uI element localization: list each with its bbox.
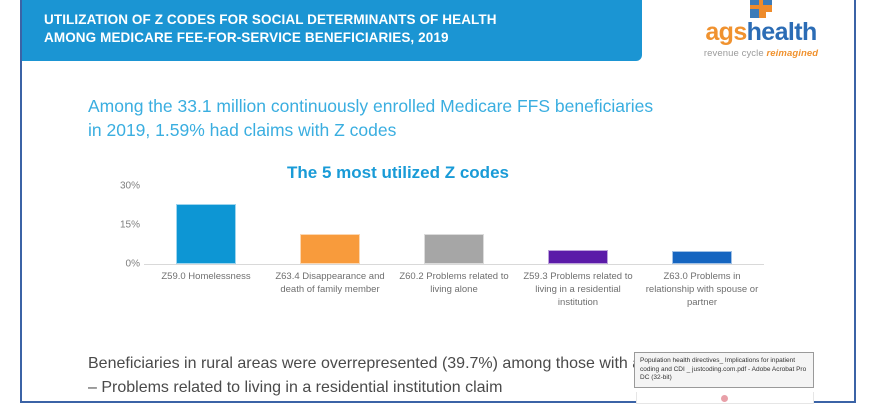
bar-slot [640,186,764,264]
medical-cross-icon [750,0,772,18]
bar-slot [516,186,640,264]
header-bar: UTILIZATION OF Z CODES FOR SOCIAL DETERM… [22,0,642,61]
logo-word-health: health [747,18,817,46]
bar-4[interactable] [548,250,608,264]
bar-5[interactable] [672,251,732,264]
bar-series [144,186,764,264]
bar-slot [268,186,392,264]
y-axis-tick: 15% [104,220,140,231]
logo-wordmark: agshealth [676,19,846,46]
pdf-icon [721,395,728,402]
bar-2[interactable] [300,234,360,264]
logo-tagline-plain: revenue cycle [704,48,767,59]
x-axis-label-5: Z63.0 Problems in relationship with spou… [640,270,764,309]
brand-logo: agshealth revenue cycle reimagined [676,8,846,64]
x-axis-label-2: Z63.4 Disappearance and death of family … [268,270,392,309]
headline-text: Among the 33.1 million continuously enro… [88,94,768,142]
logo-tagline-accent: reimagined [766,48,818,59]
y-axis-tick: 30% [104,181,140,192]
bar-chart: 30%15%0% Z59.0 HomelessnessZ63.4 Disappe… [104,186,764,331]
y-axis-tick: 0% [104,259,140,270]
page-title: UTILIZATION OF Z CODES FOR SOCIAL DETERM… [44,11,624,47]
x-axis-label-3: Z60.2 Problems related to living alone [392,270,516,309]
file-tooltip: Population health directives_ Implicatio… [634,352,814,388]
x-axis-label-1: Z59.0 Homelessness [144,270,268,309]
bar-slot [392,186,516,264]
y-axis: 30%15%0% [104,186,140,266]
x-axis-label-4: Z59.3 Problems related to living in a re… [516,270,640,309]
plot-area [144,186,764,265]
logo-word-ags: ags [705,18,746,46]
bar-1[interactable] [176,204,236,264]
tooltip-underlay [636,392,814,404]
bar-3[interactable] [424,234,484,264]
x-axis-labels: Z59.0 HomelessnessZ63.4 Disappearance an… [144,270,764,309]
chart-title: The 5 most utilized Z codes [233,163,563,183]
logo-tagline: revenue cycle reimagined [676,48,846,59]
bar-slot [144,186,268,264]
